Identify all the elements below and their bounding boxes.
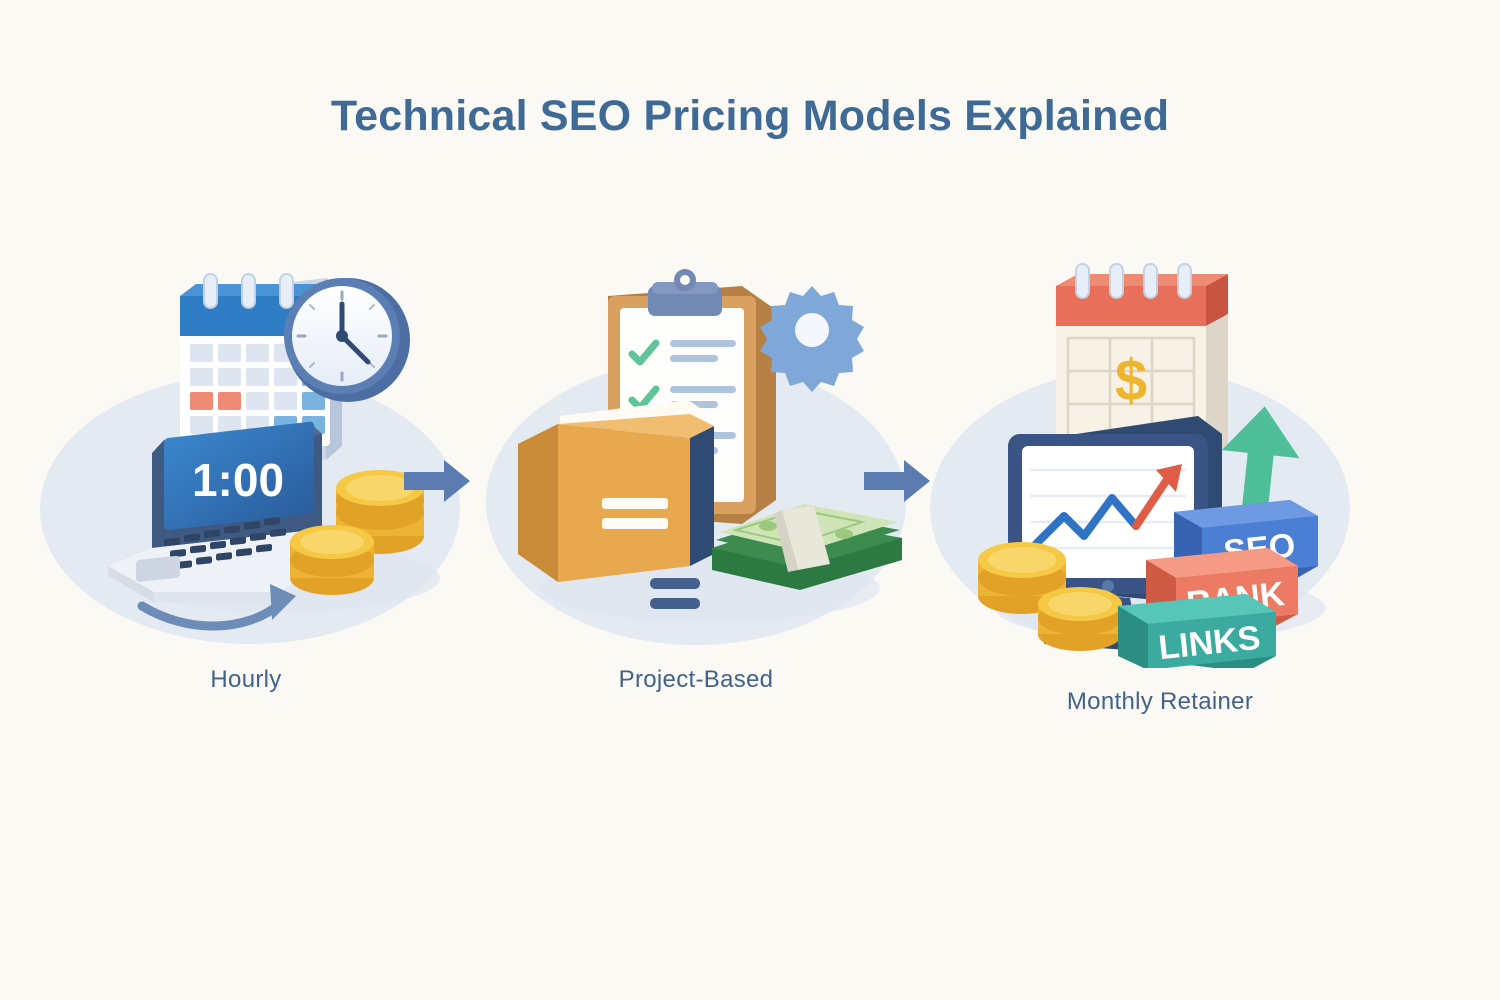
arrow-project-to-retainer [864, 458, 932, 509]
links-block: LINKS [1118, 594, 1276, 668]
stage-label-project-based: Project-Based [536, 666, 856, 694]
illustration-project-based [500, 248, 920, 648]
illustration-monthly-retainer: $ [960, 248, 1360, 668]
delivery-box-icon [518, 400, 714, 582]
laptop-screen-time: 1:00 [192, 454, 284, 506]
clipboard-clip-icon [648, 269, 722, 316]
page-title: Technical SEO Pricing Models Explained [0, 92, 1500, 141]
calendar-dollar-symbol: $ [1115, 348, 1147, 413]
illustration-hourly: 1:00 [80, 248, 480, 648]
arrow-hourly-to-project [404, 458, 472, 509]
stage-label-hourly: Hourly [86, 666, 406, 694]
stage-label-monthly-retainer: Monthly Retainer [1000, 688, 1320, 716]
infographic-canvas: Technical SEO Pricing Models Explained [0, 0, 1500, 1000]
